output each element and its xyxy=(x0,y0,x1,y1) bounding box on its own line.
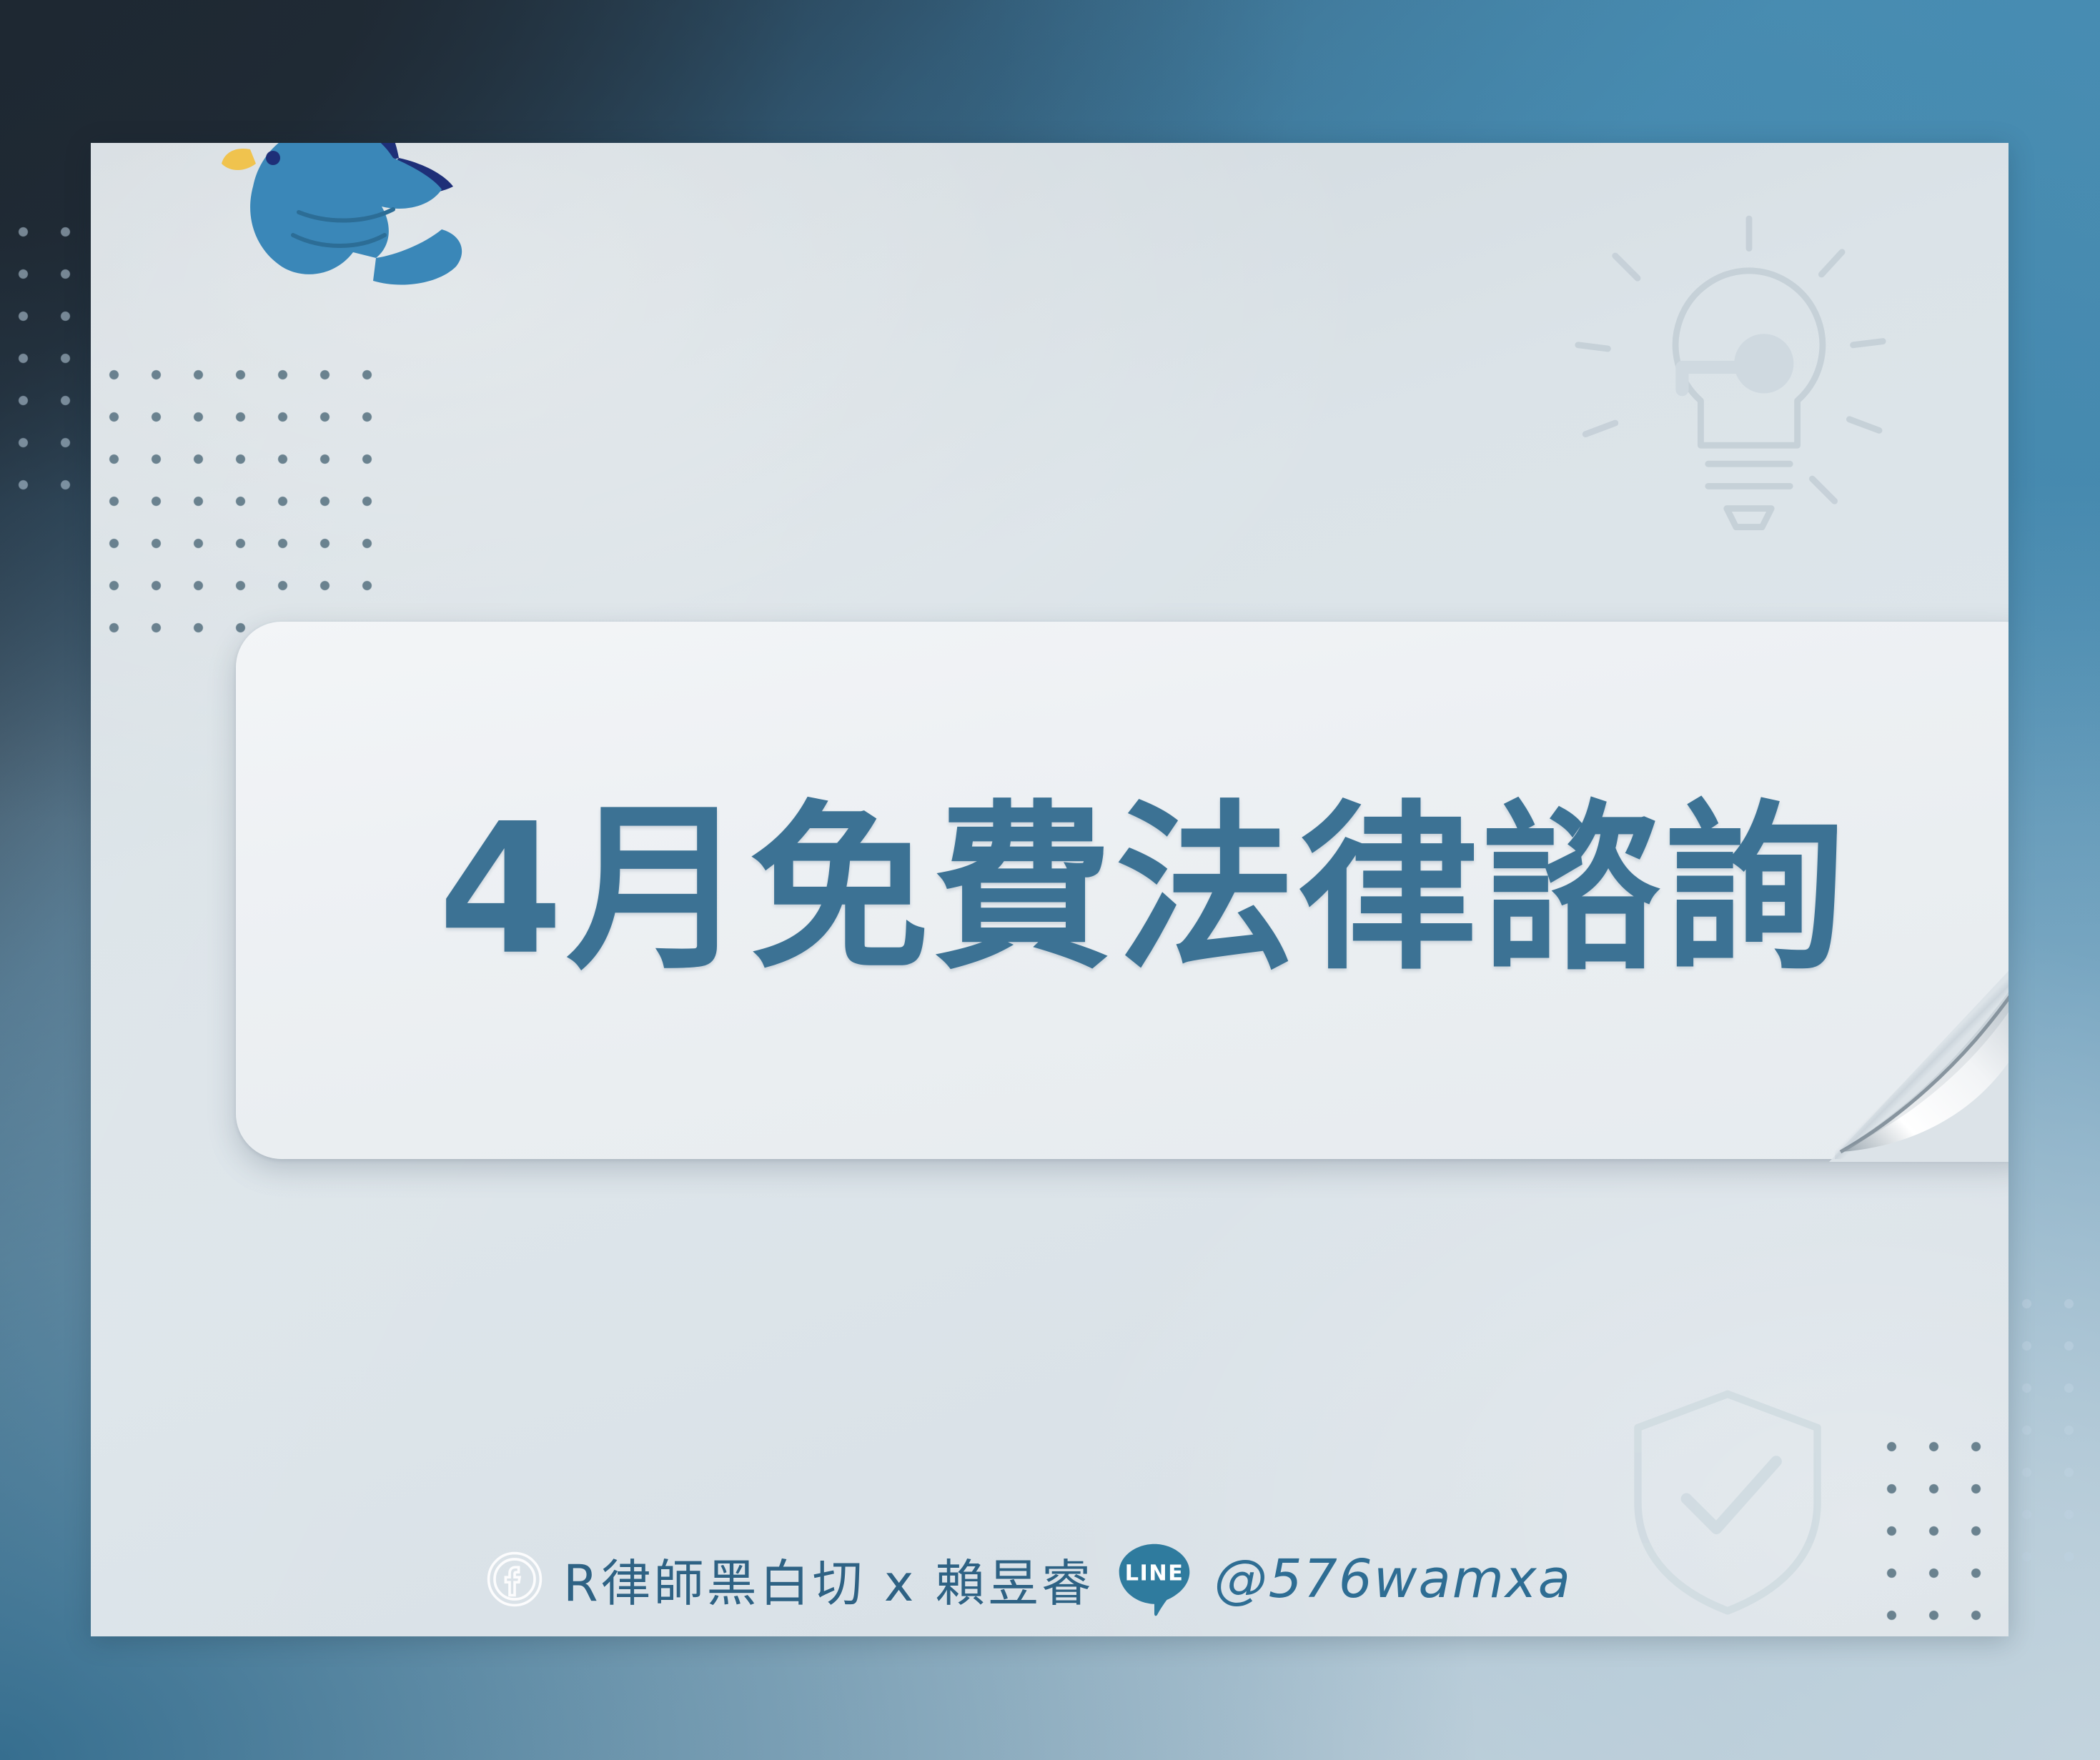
facebook-icon[interactable] xyxy=(485,1549,545,1609)
line-id: @576wamxa xyxy=(1214,1548,1572,1610)
title-panel: 4月免費法律諮詢 xyxy=(236,622,2009,1159)
dot-grid-top-left xyxy=(91,354,380,654)
dot-grid-top-left-outer xyxy=(0,211,96,511)
poster-card: 4月免費法律諮詢 xyxy=(91,143,2009,1636)
page-title: 4月免費法律諮詢 xyxy=(236,796,2009,985)
footer-bar: R律師黑白切 x 賴昱睿 LINE @576wamxa xyxy=(91,1538,2009,1621)
lightbulb-icon xyxy=(1563,200,1935,572)
facebook-page-name: R律師黑白切 x 賴昱睿 xyxy=(563,1543,1094,1616)
line-badge-label: LINE xyxy=(1124,1561,1184,1586)
bird-icon xyxy=(216,143,480,311)
line-icon[interactable]: LINE xyxy=(1113,1538,1196,1621)
dot-grid-bottom-right-outer xyxy=(2006,1283,2100,1586)
